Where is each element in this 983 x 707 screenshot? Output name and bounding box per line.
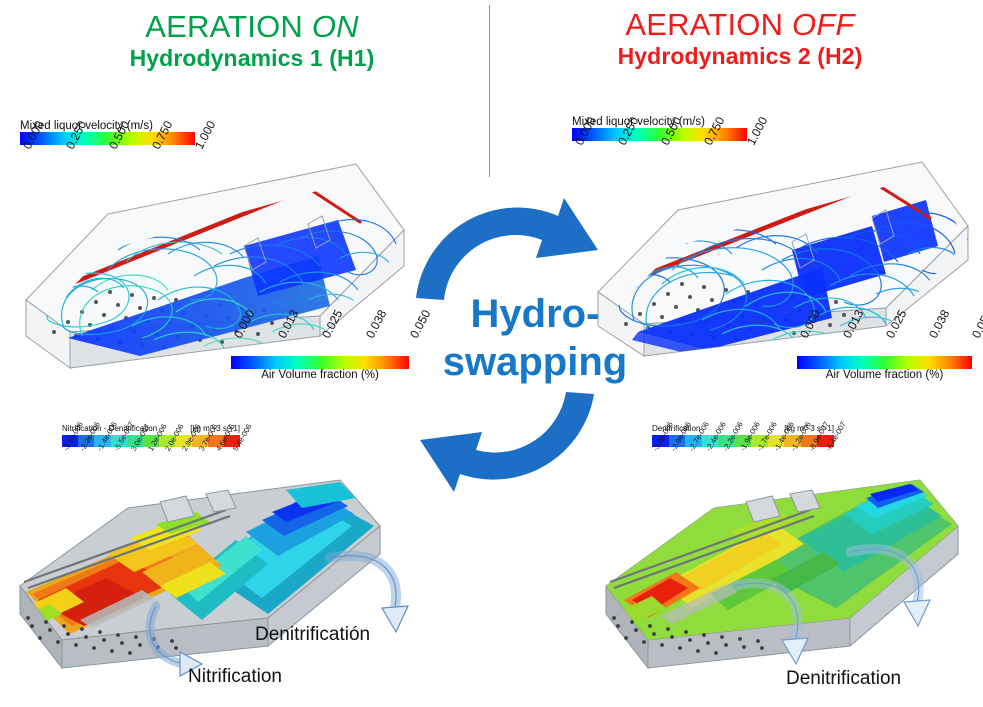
annotation-denitrification-right: Denitrification: [786, 668, 901, 690]
denitrification-arrow-right-inner: [728, 572, 828, 677]
hydro-swapping-line2: swapping: [415, 338, 655, 386]
annotation-denitrification-left: Denitrificatión: [255, 624, 370, 646]
tick: 1.000: [192, 118, 218, 151]
tick: 0.025: [883, 307, 909, 340]
tick: 0.025: [319, 307, 345, 340]
aeration-value-right: OFF: [792, 7, 855, 42]
air-colorbar-title-left: Air Volume fraction (%): [231, 369, 409, 381]
air-colorbar-left: 0.000 0.013 0.025 0.038 0.050 Air Volume…: [231, 310, 409, 381]
cycle-arrow-bottom: [420, 392, 594, 492]
tick: 0.013: [275, 307, 301, 340]
cycle-arrow-top: [416, 198, 598, 300]
figure-canvas: AERATION ON Hydrodynamics 1 (H1) AERATIO…: [0, 0, 983, 707]
panel-header-left: AERATION ON Hydrodynamics 1 (H1): [42, 10, 462, 72]
aeration-state-left: AERATION ON: [42, 10, 462, 44]
hydrodynamics-subtitle-right: Hydrodynamics 2 (H2): [530, 42, 950, 70]
aeration-prefix-right: AERATION: [625, 7, 792, 42]
aeration-state-right: AERATION OFF: [530, 8, 950, 42]
panel-divider: [489, 5, 490, 177]
annotation-nitrification-left: Nitrification: [188, 666, 282, 688]
air-colorbar-right: 0.000 0.013 0.025 0.038 0.050 Air Volume…: [797, 310, 972, 381]
denitrification-arrow-right-outer: [846, 540, 946, 645]
hydrodynamics-subtitle-left: Hydrodynamics 1 (H1): [42, 44, 462, 72]
tick: 0.000: [797, 307, 823, 340]
air-colorbar-title-right: Air Volume fraction (%): [797, 369, 972, 381]
hydro-swapping-label: Hydro- swapping: [415, 290, 655, 386]
air-colorbar-ticks-right: 0.000 0.013 0.025 0.038 0.050: [797, 310, 972, 356]
air-colorbar-ticks-left: 0.000 0.013 0.025 0.038 0.050: [231, 310, 409, 356]
tick: 1.000: [744, 114, 770, 147]
panel-header-right: AERATION OFF Hydrodynamics 2 (H2): [530, 8, 950, 70]
air-colorbar-gradient-right: [797, 356, 972, 369]
tick: 0.038: [926, 307, 952, 340]
aeration-prefix-left: AERATION: [145, 9, 312, 44]
tick: 0.000: [231, 307, 257, 340]
tick: 0.013: [840, 307, 866, 340]
aeration-value-left: ON: [312, 9, 359, 44]
hydro-swapping-line1: Hydro-: [415, 290, 655, 338]
air-colorbar-gradient-left: [231, 356, 409, 369]
tick: 0.038: [363, 307, 389, 340]
